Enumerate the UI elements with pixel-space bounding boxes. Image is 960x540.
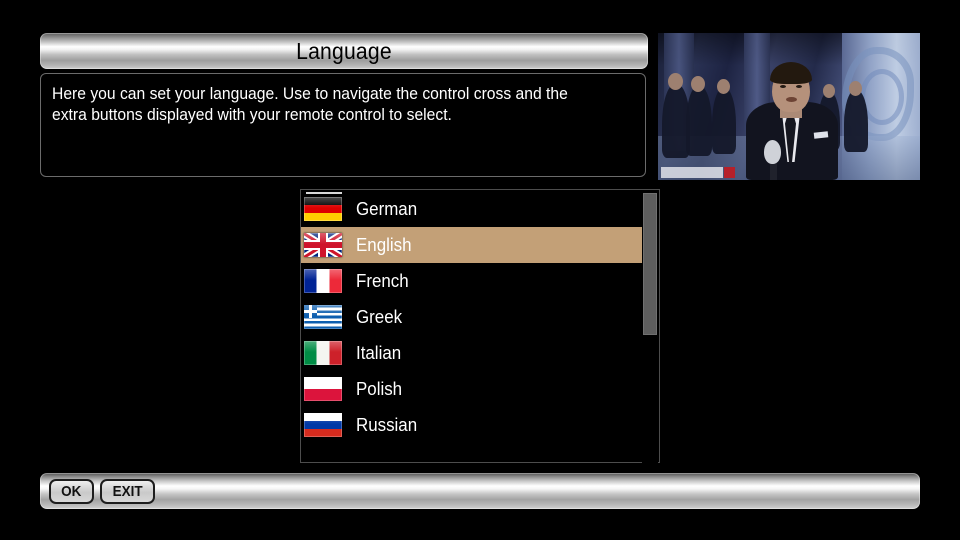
page-title: Language: [296, 38, 392, 65]
germany-flag-icon: [304, 197, 342, 221]
language-list-item[interactable]: German: [301, 191, 643, 227]
language-list-panel: GermanEnglishFrenchGreekItalianPolishRus…: [300, 189, 660, 463]
reporter-mouth: [786, 97, 797, 102]
ok-button[interactable]: OK: [49, 479, 94, 504]
tv-settings-screen: Language Here you can set your language.…: [0, 0, 960, 540]
crowd-head: [823, 84, 835, 98]
reporter-eye-left: [780, 85, 786, 88]
language-list-item-label: Italian: [356, 343, 401, 364]
language-list-item[interactable]: Greek: [301, 299, 643, 335]
crowd-figure: [844, 90, 868, 152]
italy-flag-icon: [304, 341, 342, 365]
crowd-head: [717, 79, 730, 94]
scrollbar-thumb[interactable]: [643, 193, 657, 335]
video-preview[interactable]: [658, 33, 920, 180]
crowd-head: [691, 76, 705, 92]
reporter-eye-right: [796, 85, 802, 88]
channel-logo: [661, 167, 723, 178]
greece-flag-icon: [304, 305, 342, 329]
crowd-head: [849, 81, 862, 96]
language-list-item[interactable]: Russian: [301, 407, 643, 443]
microphone-icon: [764, 140, 781, 164]
language-list-item[interactable]: Italian: [301, 335, 643, 371]
language-list-item[interactable]: Polish: [301, 371, 643, 407]
channel-logo-accent: [724, 167, 735, 178]
language-list-item-label: English: [356, 235, 412, 256]
language-list-item[interactable]: English: [301, 227, 643, 263]
crowd-figure: [686, 86, 712, 156]
language-list-item-label: Russian: [356, 415, 417, 436]
title-bar: Language: [40, 33, 648, 69]
softkey-bar: OK EXIT: [40, 473, 920, 509]
language-list-item-label: French: [356, 271, 409, 292]
language-list-item-label: Polish: [356, 379, 402, 400]
russia-flag-icon: [304, 413, 342, 437]
scrollbar-track[interactable]: [642, 191, 658, 463]
language-list-item-label: German: [356, 199, 417, 220]
language-list[interactable]: GermanEnglishFrenchGreekItalianPolishRus…: [301, 191, 643, 443]
ok-button-label: OK: [61, 483, 81, 500]
exit-button[interactable]: EXIT: [100, 479, 155, 504]
crowd-figure: [712, 88, 736, 154]
exit-button-label: EXIT: [112, 483, 142, 500]
united-kingdom-flag-icon: [304, 233, 342, 257]
description-text: Here you can set your language. Use to n…: [52, 84, 605, 126]
language-list-item-label: Greek: [356, 307, 402, 328]
france-flag-icon: [304, 269, 342, 293]
language-list-item[interactable]: French: [301, 263, 643, 299]
crowd-head: [668, 73, 683, 90]
description-box: Here you can set your language. Use to n…: [40, 73, 646, 177]
poland-flag-icon: [304, 377, 342, 401]
